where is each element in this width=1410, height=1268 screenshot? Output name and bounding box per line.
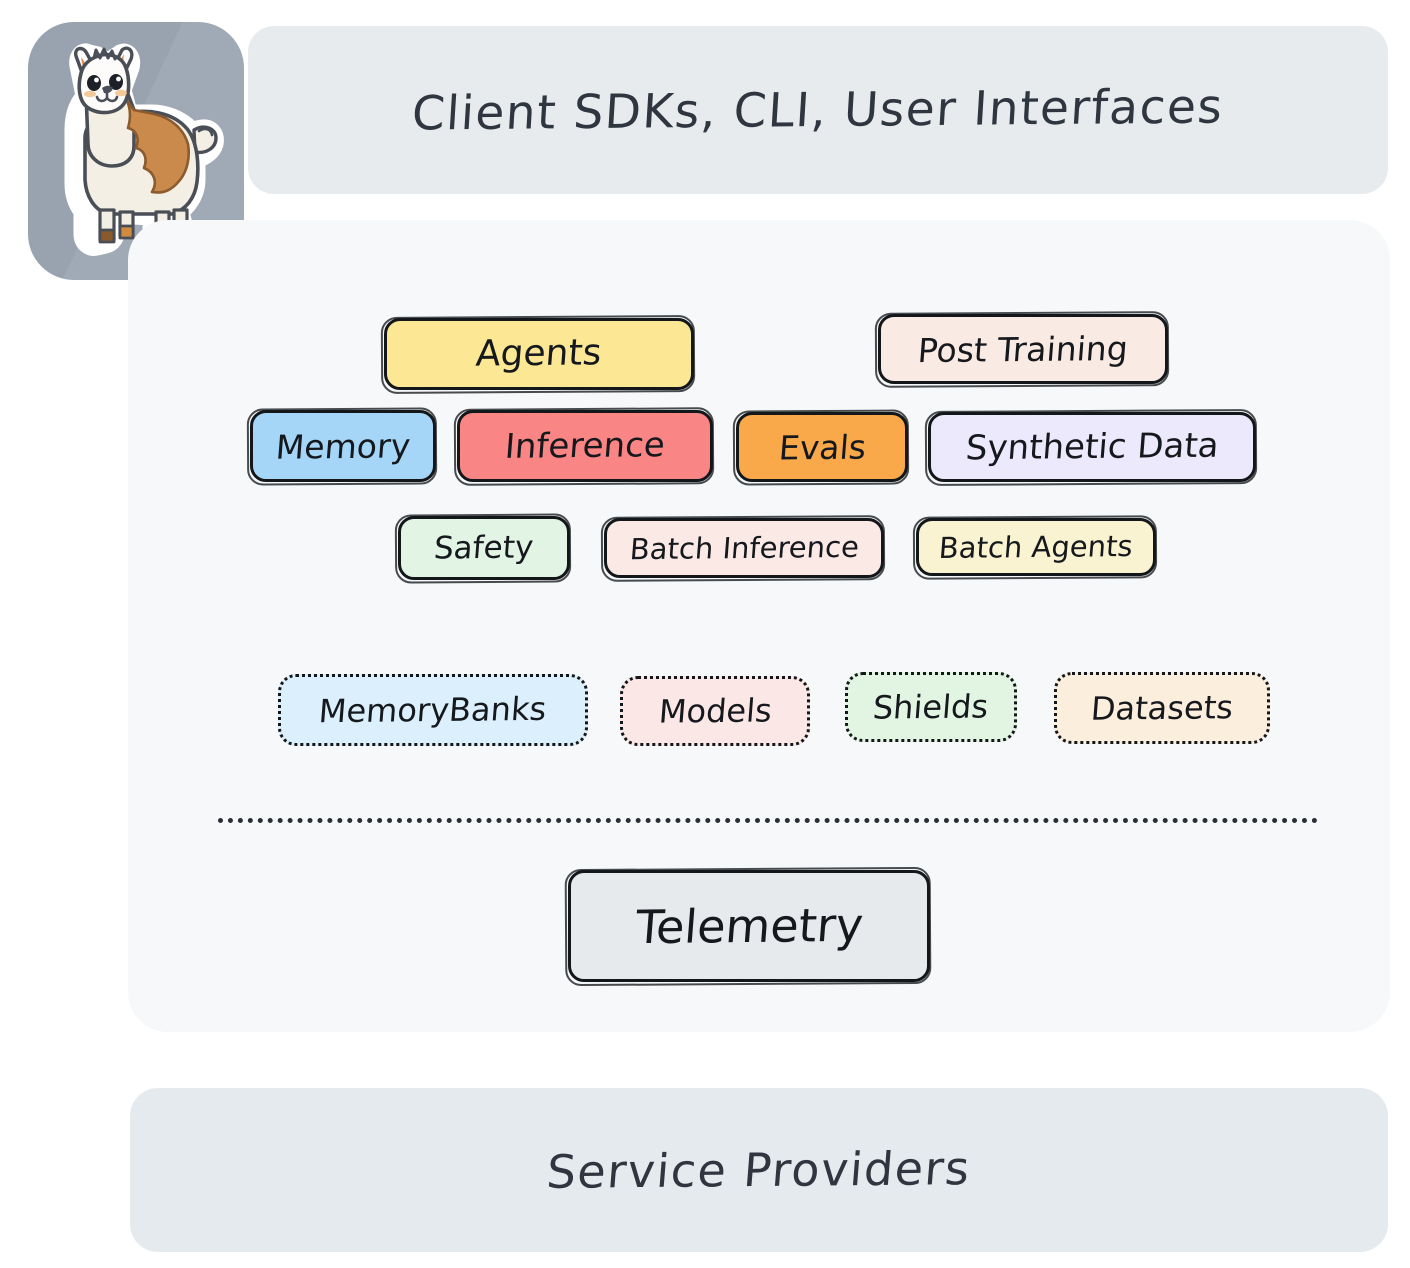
api-box-label: Synthetic Data bbox=[964, 429, 1219, 466]
client-interfaces-label: Client SDKs, CLI, User Interfaces bbox=[411, 79, 1226, 141]
api-box-label: Post Training bbox=[917, 331, 1129, 366]
resource-box-label: Models bbox=[657, 694, 772, 727]
api-box-label: Batch Inference bbox=[628, 532, 859, 563]
api-box-batch-inference[interactable]: Batch Inference bbox=[604, 518, 884, 578]
api-box-post-training[interactable]: Post Training bbox=[878, 314, 1168, 384]
api-box-label: Batch Agents bbox=[938, 531, 1134, 562]
dotted-divider bbox=[218, 818, 1318, 823]
api-box-label: Inference bbox=[504, 428, 667, 464]
resource-box-shields[interactable]: Shields bbox=[845, 672, 1017, 742]
api-box-inference[interactable]: Inference bbox=[457, 410, 713, 482]
service-providers-label: Service Providers bbox=[545, 1141, 973, 1199]
resource-box-memorybanks[interactable]: MemoryBanks bbox=[278, 674, 588, 746]
api-box-agents[interactable]: Agents bbox=[384, 318, 694, 390]
api-box-memory[interactable]: Memory bbox=[250, 410, 436, 482]
resource-box-label: Shields bbox=[872, 690, 990, 723]
telemetry-box-label: Telemetry bbox=[634, 902, 865, 950]
resource-box-label: MemoryBanks bbox=[318, 693, 548, 727]
service-providers-banner: Service Providers bbox=[130, 1088, 1388, 1252]
resource-box-label: Datasets bbox=[1090, 691, 1235, 724]
api-box-label: Evals bbox=[777, 430, 867, 464]
telemetry-box-telemetry[interactable]: Telemetry bbox=[568, 870, 930, 982]
client-interfaces-banner: Client SDKs, CLI, User Interfaces bbox=[248, 26, 1388, 194]
api-box-label: Safety bbox=[433, 532, 535, 564]
api-box-label: Agents bbox=[475, 335, 603, 372]
api-box-batch-agents[interactable]: Batch Agents bbox=[916, 518, 1156, 576]
api-box-evals[interactable]: Evals bbox=[736, 412, 908, 482]
resource-box-models[interactable]: Models bbox=[620, 676, 810, 746]
api-box-synthetic-data[interactable]: Synthetic Data bbox=[928, 412, 1256, 482]
resource-box-datasets[interactable]: Datasets bbox=[1054, 672, 1270, 744]
api-box-safety[interactable]: Safety bbox=[398, 516, 570, 580]
api-box-label: Memory bbox=[275, 429, 412, 463]
